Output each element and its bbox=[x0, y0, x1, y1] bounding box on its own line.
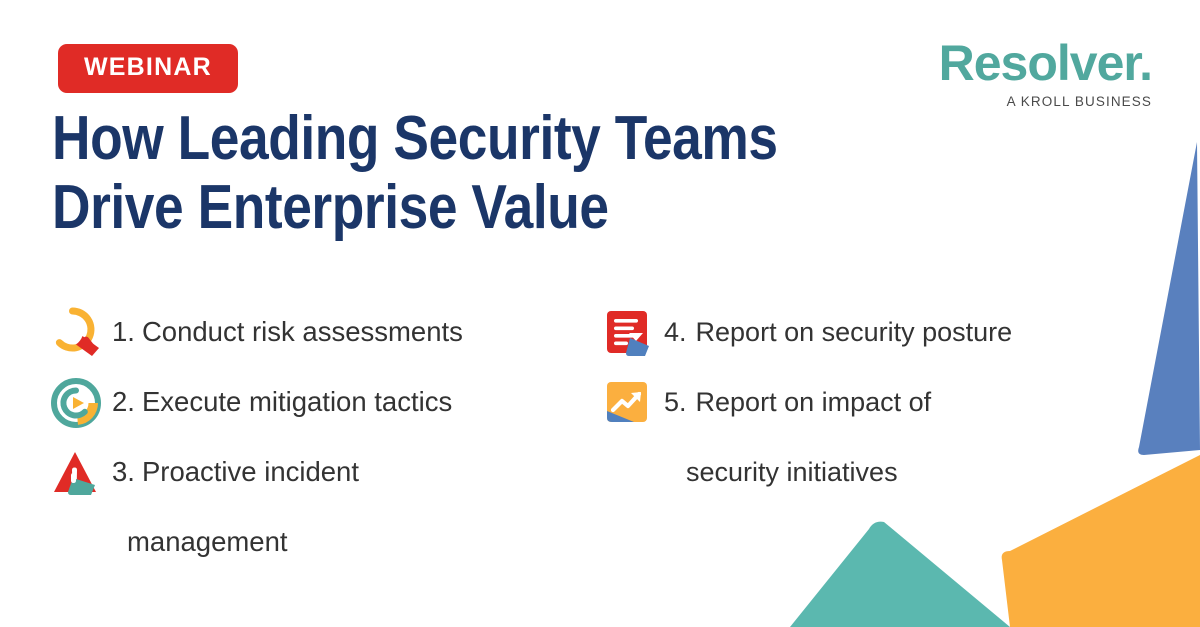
page-title: How Leading Security Teams Drive Enterpr… bbox=[52, 104, 778, 243]
list-item-number: 1. bbox=[112, 305, 135, 359]
list-item-wrap: management bbox=[48, 515, 600, 585]
warning-triangle-icon bbox=[48, 445, 104, 501]
webinar-promo-banner: WEBINAR Resolver. A KROLL BUSINESS How L… bbox=[0, 0, 1200, 627]
list-item: 3. Proactive incident bbox=[48, 445, 600, 515]
list-item-number: 4. bbox=[664, 305, 687, 359]
list-item-wrap: security initiatives bbox=[600, 445, 1160, 515]
resolver-logo: Resolver. A KROLL BUSINESS bbox=[939, 38, 1152, 109]
list-item: 5. Report on impact of bbox=[600, 375, 1160, 445]
list-item: 2. Execute mitigation tactics bbox=[48, 375, 600, 445]
list-item-number: 5. bbox=[664, 375, 687, 429]
agenda-column-right: 4. Report on security posture 5. Report … bbox=[600, 305, 1160, 585]
list-item-label-continued: security initiatives bbox=[664, 445, 898, 515]
list-item: 4. Report on security posture bbox=[600, 305, 1160, 375]
list-item-number: 3. bbox=[112, 445, 135, 499]
list-item-label: Report on impact of bbox=[687, 375, 932, 429]
trending-chart-icon bbox=[600, 375, 656, 431]
logo-wordmark: Resolver. bbox=[939, 38, 1152, 88]
magnifying-glass-icon bbox=[48, 305, 104, 361]
list-item: 1. Conduct risk assessments bbox=[48, 305, 600, 375]
webinar-badge: WEBINAR bbox=[58, 44, 238, 93]
list-item-label: Conduct risk assessments bbox=[135, 305, 463, 359]
title-line-1: How Leading Security Teams bbox=[52, 104, 778, 173]
target-bullseye-icon bbox=[48, 375, 104, 431]
list-item-label: Execute mitigation tactics bbox=[135, 375, 452, 429]
report-document-icon bbox=[600, 305, 656, 361]
agenda-column-left: 1. Conduct risk assessments 2. Execute m… bbox=[48, 305, 600, 585]
title-line-2: Drive Enterprise Value bbox=[52, 173, 778, 242]
list-item-number: 2. bbox=[112, 375, 135, 429]
list-item-label: Proactive incident bbox=[135, 445, 359, 499]
list-item-label-continued: management bbox=[112, 515, 288, 585]
logo-tagline: A KROLL BUSINESS bbox=[939, 94, 1152, 109]
agenda-list: 1. Conduct risk assessments 2. Execute m… bbox=[48, 305, 1200, 585]
list-item-label: Report on security posture bbox=[687, 305, 1013, 359]
